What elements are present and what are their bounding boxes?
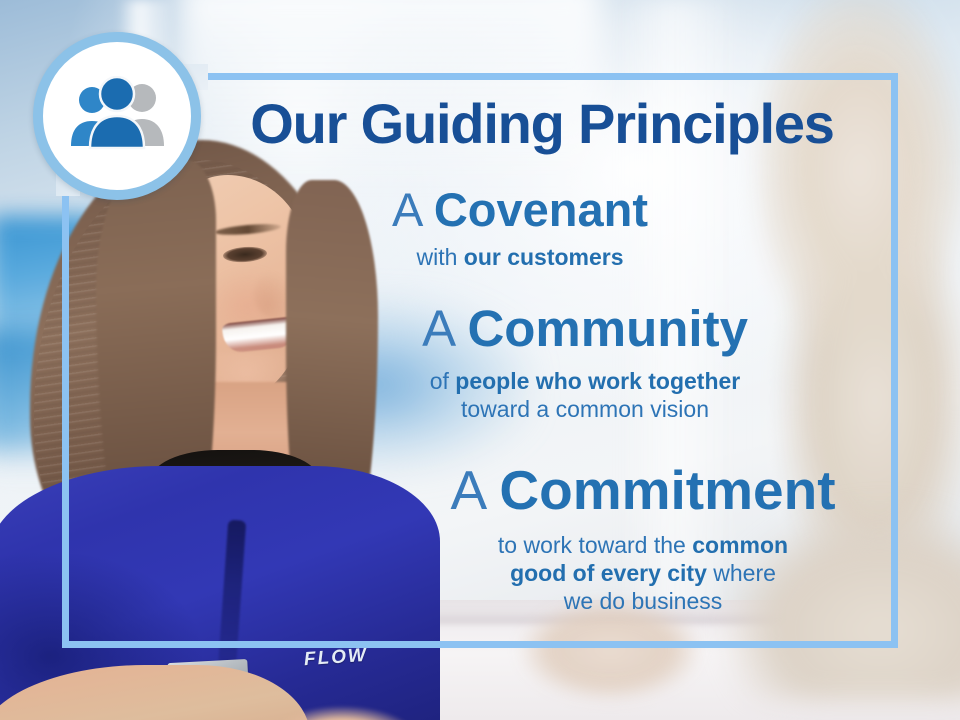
- principle-article: A: [392, 183, 434, 236]
- principle-block-commitment: A Commitment to work toward the common g…: [408, 462, 878, 615]
- principle-article: A: [450, 459, 499, 521]
- subtext-strong-a: common: [692, 532, 788, 558]
- people-group-icon-badge: [33, 32, 201, 200]
- subtext-strong-b: good of every city: [510, 560, 707, 586]
- principle-article: A: [422, 300, 467, 357]
- principle-keyword: Community: [467, 300, 748, 357]
- guiding-principles-banner: FLOW FLOW Our Guiding Pr: [0, 0, 960, 720]
- subtext-tail: where: [707, 560, 776, 586]
- subtext-strong: people who work together: [455, 368, 740, 394]
- principle-heading-commitment: A Commitment: [408, 462, 878, 518]
- shirt-chest-logo: FLOW: [303, 645, 368, 671]
- subtext-strong: our customers: [464, 244, 624, 270]
- subtext-line2: toward a common vision: [461, 396, 709, 422]
- principle-subtext-covenant: with our customers: [300, 243, 740, 271]
- principle-subtext-community: of people who work together toward a com…: [355, 367, 815, 423]
- principle-block-covenant: A Covenant with our customers: [300, 186, 740, 271]
- people-group-icon: [62, 76, 172, 156]
- principle-heading-covenant: A Covenant: [300, 186, 740, 234]
- subtext-line2: we do business: [564, 588, 723, 614]
- principle-subtext-commitment: to work toward the common good of every …: [408, 531, 878, 615]
- principle-heading-community: A Community: [355, 303, 815, 355]
- associate-hands: [250, 698, 440, 720]
- principle-block-community: A Community of people who work together …: [355, 303, 815, 423]
- page-title: Our Guiding Principles: [212, 96, 872, 152]
- principle-keyword: Commitment: [499, 459, 835, 521]
- subtext-lead: with: [416, 244, 463, 270]
- principle-keyword: Covenant: [434, 183, 648, 236]
- subtext-lead: of: [430, 368, 456, 394]
- subtext-lead: to work toward the: [498, 532, 692, 558]
